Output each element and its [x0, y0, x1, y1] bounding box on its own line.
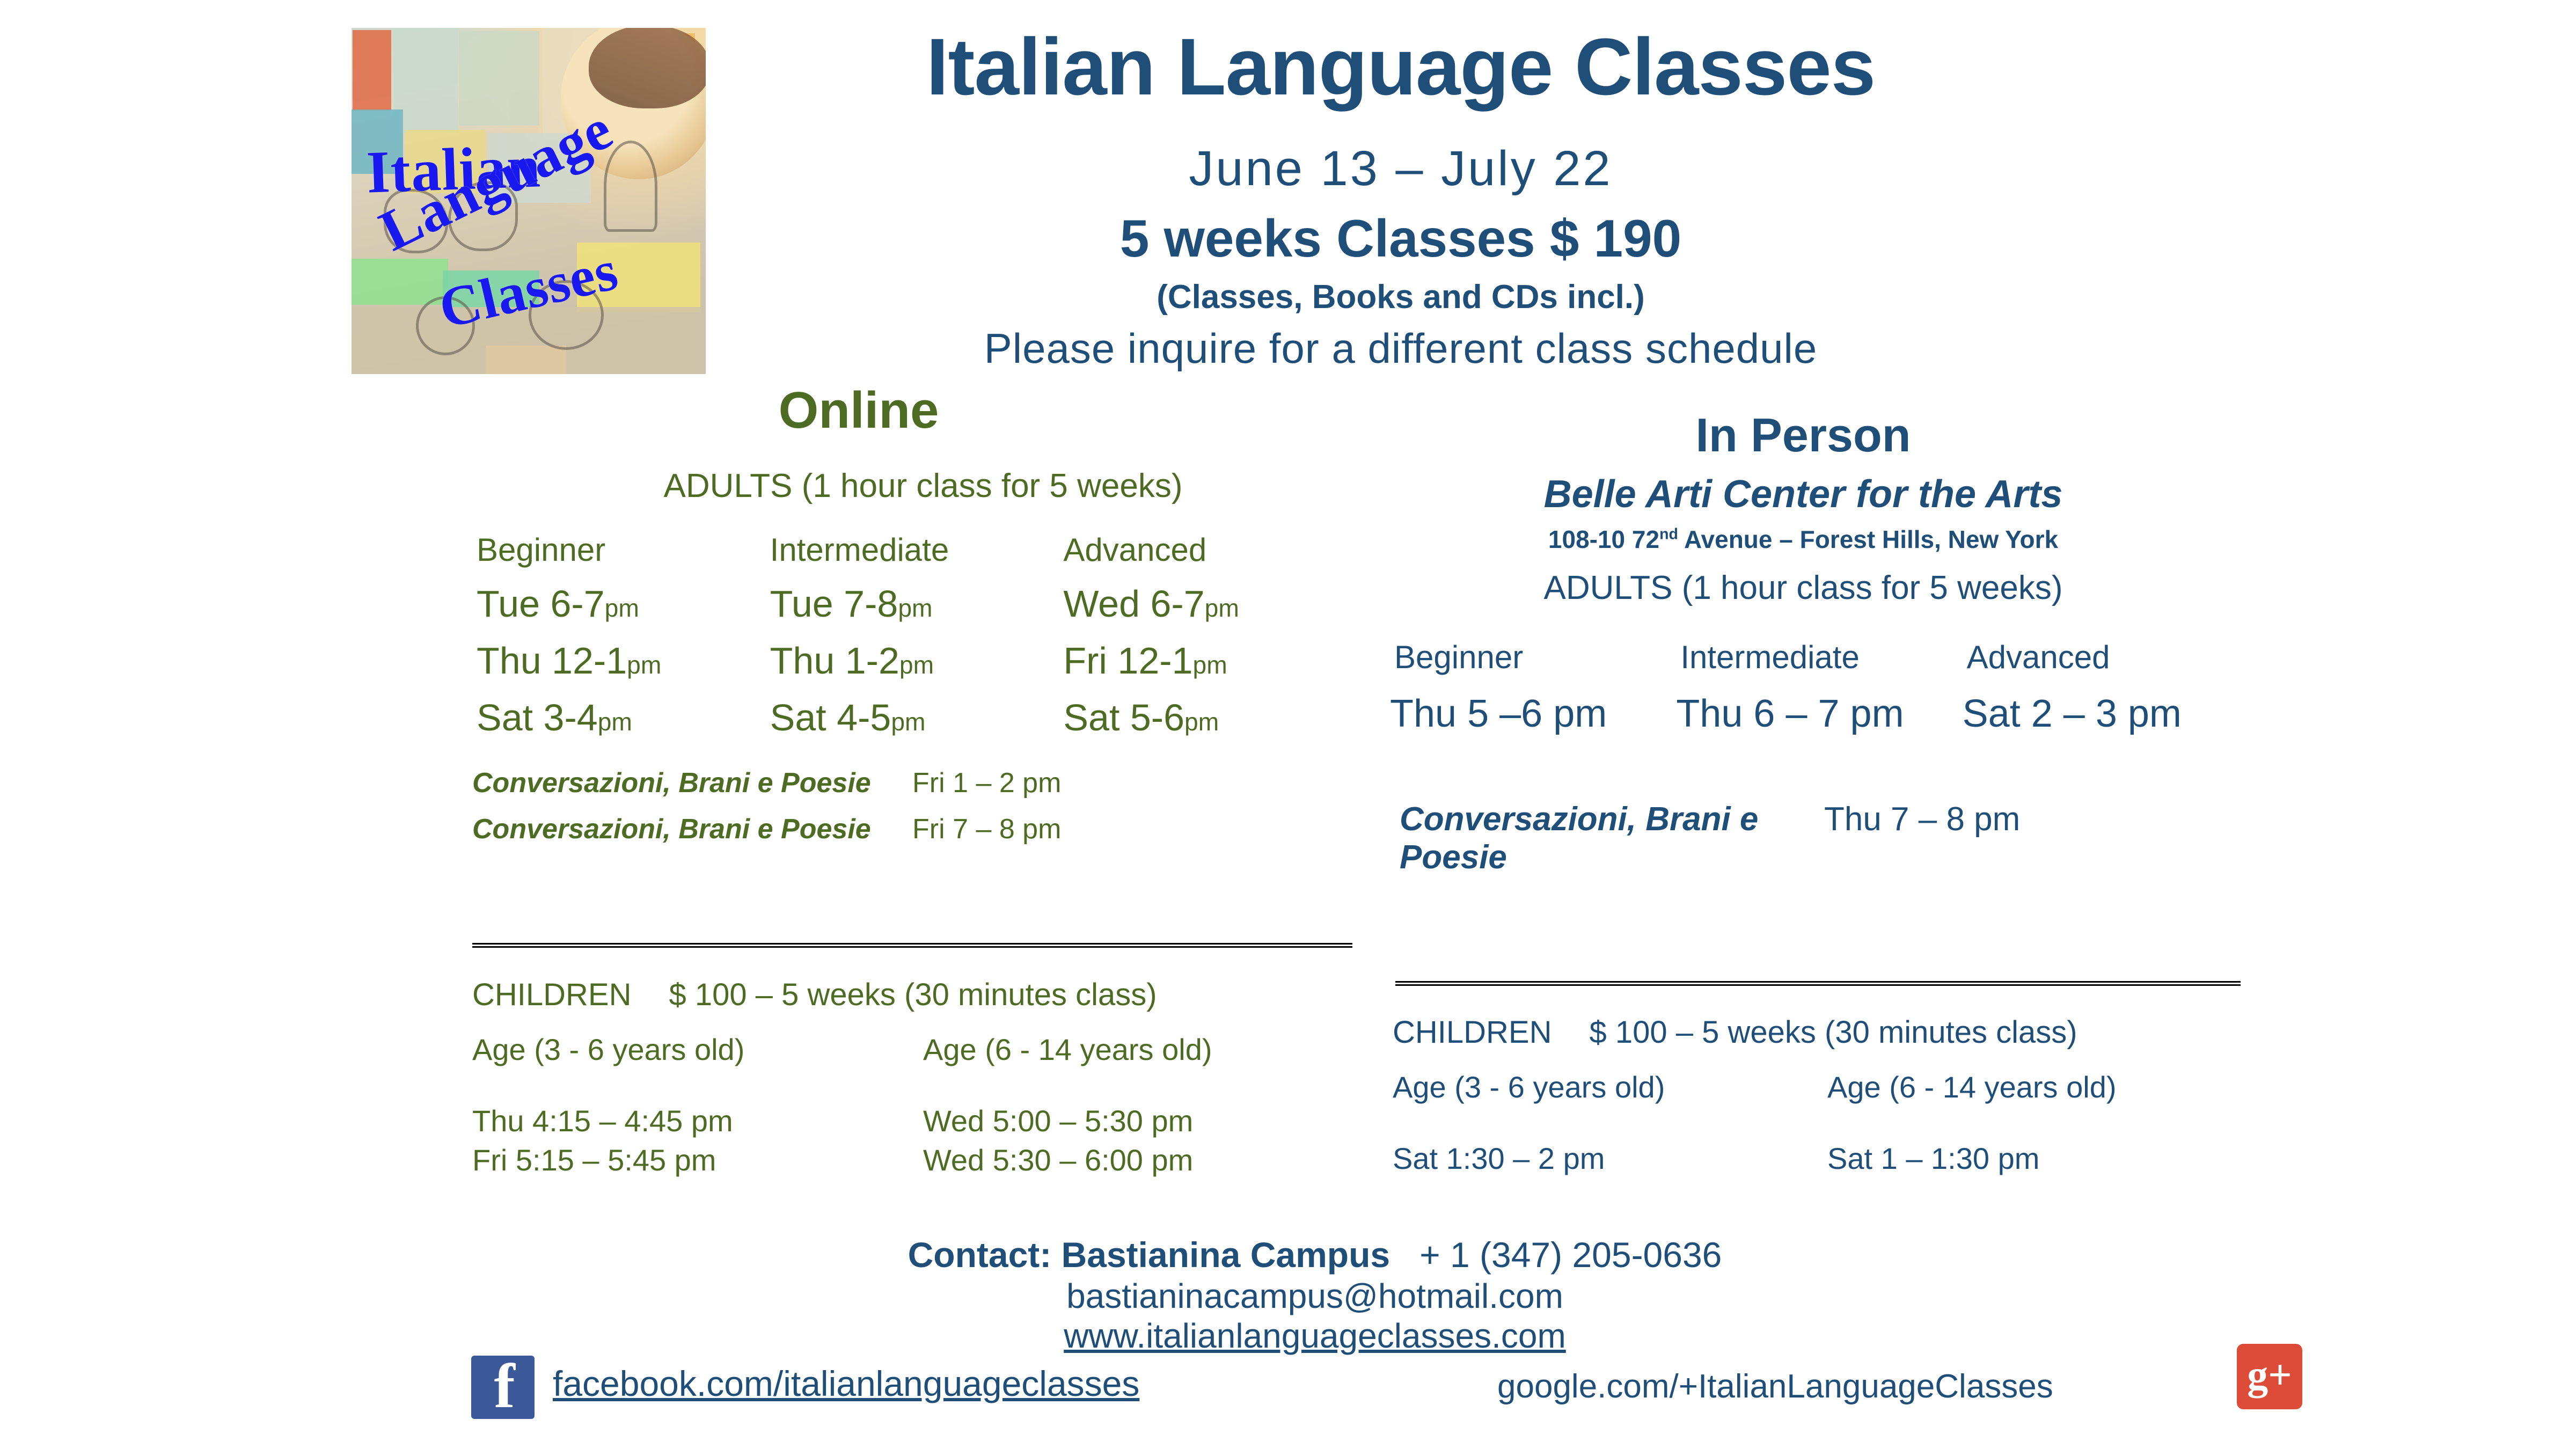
online-slot-intermediate-3: Sat 4-5pm [766, 682, 1059, 739]
contact-website[interactable]: www.italianlanguageclasses.com [644, 1316, 1986, 1356]
section-heading-in-person: In Person [1438, 408, 2168, 463]
in-person-slot-intermediate: Thu 6 – 7 pm [1676, 692, 1962, 736]
online-children-time-2b: Wed 5:30 – 6:00 pm [923, 1143, 1374, 1177]
online-slot-advanced-1: Wed 6-7pm [1059, 568, 1352, 625]
online-conversation-row: Conversazioni, Brani e Poesie Fri 7 – 8 … [472, 813, 1352, 845]
logo-line-classes: Classes [433, 237, 624, 342]
venue-name: Belle Arti Center for the Arts [1438, 472, 2168, 516]
online-children-price: $ 100 – 5 weeks (30 minutes class) [669, 977, 1157, 1012]
in-person-children-time-2a: Sat 1 – 1:30 pm [1827, 1141, 2262, 1176]
in-person-level-intermediate: Intermediate [1676, 639, 1962, 676]
contact-line: Contact: Bastianina Campus + 1 (347) 205… [644, 1234, 1986, 1275]
italian-language-classes-logo: Italian Language Classes [352, 28, 706, 374]
online-level-advanced: Advanced [1059, 531, 1352, 568]
contact-email[interactable]: bastianinacampus@hotmail.com [644, 1276, 1986, 1316]
in-person-children-label: CHILDREN [1393, 1015, 1552, 1050]
in-person-level-header-row: Beginner Intermediate Advanced [1390, 639, 2249, 676]
in-person-children-time-1a: Sat 1:30 – 2 pm [1393, 1141, 1827, 1176]
online-children-time-2a: Wed 5:00 – 5:30 pm [923, 1103, 1374, 1138]
in-person-children-age-row: Age (3 - 6 years old) Age (6 - 14 years … [1393, 1070, 2262, 1104]
date-range: June 13 – July 22 [703, 141, 2098, 197]
online-children-times-col-2: Wed 5:00 – 5:30 pm Wed 5:30 – 6:00 pm [923, 1086, 1374, 1177]
google-plus-icon[interactable] [2237, 1344, 2302, 1409]
online-children-age-row: Age (3 - 6 years old) Age (6 - 14 years … [472, 1032, 1374, 1067]
in-person-children-age-group-1: Age (3 - 6 years old) [1393, 1070, 1827, 1104]
in-person-level-advanced: Advanced [1963, 639, 2249, 676]
online-conversation-label-2: Conversazioni, Brani e Poesie [472, 813, 912, 845]
online-level-intermediate: Intermediate [766, 531, 1059, 568]
in-person-children-price: $ 100 – 5 weeks (30 minutes class) [1590, 1015, 2077, 1050]
facebook-icon[interactable] [471, 1356, 535, 1419]
online-slot-intermediate-2: Thu 1-2pm [766, 625, 1059, 682]
in-person-section-divider [1395, 981, 2241, 986]
section-heading-online: Online [623, 381, 1095, 440]
in-person-children-times-col-2: Sat 1 – 1:30 pm [1827, 1124, 2262, 1176]
in-person-conversation-label: Conversazioni, Brani e Poesie [1400, 800, 1824, 876]
flyer-canvas: Italian Language Classes Italian Languag… [0, 0, 2576, 1449]
online-slot-beginner-3: Sat 3-4pm [472, 682, 766, 739]
online-children-time-1a: Thu 4:15 – 4:45 pm [472, 1103, 923, 1138]
online-adults-label: ADULTS (1 hour class for 5 weeks) [526, 467, 1320, 505]
contact-label: Contact: Bastianina Campus [908, 1235, 1390, 1275]
in-person-adults-schedule: Beginner Intermediate Advanced Thu 5 –6 … [1390, 639, 2249, 876]
online-children-label: CHILDREN [472, 977, 632, 1012]
online-children-age-group-2: Age (6 - 14 years old) [923, 1032, 1374, 1067]
logo-wordmark: Italian Language Classes [352, 28, 706, 374]
online-children-time-1b: Fri 5:15 – 5:45 pm [472, 1143, 923, 1177]
online-children-times-col-1: Thu 4:15 – 4:45 pm Fri 5:15 – 5:45 pm [472, 1086, 923, 1177]
facebook-link[interactable]: facebook.com/italianlanguageclasses [553, 1363, 1139, 1404]
price-line: 5 weeks Classes $ 190 [703, 208, 2098, 269]
online-children-title: CHILDREN$ 100 – 5 weeks (30 minutes clas… [472, 977, 1374, 1013]
included-note: (Classes, Books and CDs incl.) [703, 278, 2098, 316]
online-children-age-group-1: Age (3 - 6 years old) [472, 1032, 923, 1067]
online-slot-advanced-2: Fri 12-1pm [1059, 625, 1352, 682]
in-person-slot-advanced: Sat 2 – 3 pm [1963, 692, 2249, 736]
online-conversation-time-2: Fri 7 – 8 pm [912, 813, 1352, 845]
in-person-children-section: CHILDREN$ 100 – 5 weeks (30 minutes clas… [1393, 1014, 2262, 1176]
in-person-schedule-row: Thu 5 –6 pm Thu 6 – 7 pm Sat 2 – 3 pm [1390, 692, 2249, 736]
online-level-header-row: Beginner Intermediate Advanced [472, 531, 1352, 568]
online-conversation-time-1: Fri 1 – 2 pm [912, 767, 1352, 799]
online-children-times-row: Thu 4:15 – 4:45 pm Fri 5:15 – 5:45 pm We… [472, 1086, 1374, 1177]
in-person-conversation-time: Thu 7 – 8 pm [1824, 800, 2249, 876]
inquire-note: Please inquire for a different class sch… [703, 324, 2098, 373]
online-section-divider [472, 943, 1352, 948]
in-person-children-title: CHILDREN$ 100 – 5 weeks (30 minutes clas… [1393, 1014, 2262, 1050]
online-slot-beginner-2: Thu 12-1pm [472, 625, 766, 682]
online-schedule-row: Sat 3-4pm Sat 4-5pm Sat 5-6pm [472, 682, 1352, 739]
online-adults-schedule: Beginner Intermediate Advanced Tue 6-7pm… [472, 531, 1352, 845]
online-conversation-label-1: Conversazioni, Brani e Poesie [472, 767, 912, 799]
online-slot-intermediate-1: Tue 7-8pm [766, 568, 1059, 625]
in-person-conversation-row: Conversazioni, Brani e Poesie Thu 7 – 8 … [1390, 800, 2249, 876]
google-plus-link[interactable]: google.com/+ItalianLanguageClasses [1497, 1367, 2053, 1406]
in-person-children-times-row: Sat 1:30 – 2 pm Sat 1 – 1:30 pm [1393, 1124, 2262, 1176]
venue-address: 108-10 72nd Avenue – Forest Hills, New Y… [1438, 525, 2168, 554]
online-children-section: CHILDREN$ 100 – 5 weeks (30 minutes clas… [472, 977, 1374, 1177]
online-conversation-row: Conversazioni, Brani e Poesie Fri 1 – 2 … [472, 767, 1352, 799]
page-title: Italian Language Classes [703, 26, 2098, 108]
in-person-children-times-col-1: Sat 1:30 – 2 pm [1393, 1124, 1827, 1176]
in-person-children-age-group-2: Age (6 - 14 years old) [1827, 1070, 2262, 1104]
in-person-adults-label: ADULTS (1 hour class for 5 weeks) [1438, 569, 2168, 607]
online-schedule-row: Tue 6-7pm Tue 7-8pm Wed 6-7pm [472, 568, 1352, 625]
online-slot-beginner-1: Tue 6-7pm [472, 568, 766, 625]
in-person-slot-beginner: Thu 5 –6 pm [1390, 692, 1676, 736]
online-slot-advanced-3: Sat 5-6pm [1059, 682, 1352, 739]
online-level-beginner: Beginner [472, 531, 766, 568]
online-schedule-row: Thu 12-1pm Thu 1-2pm Fri 12-1pm [472, 625, 1352, 682]
in-person-level-beginner: Beginner [1390, 639, 1676, 676]
contact-phone: + 1 (347) 205-0636 [1419, 1235, 1722, 1275]
